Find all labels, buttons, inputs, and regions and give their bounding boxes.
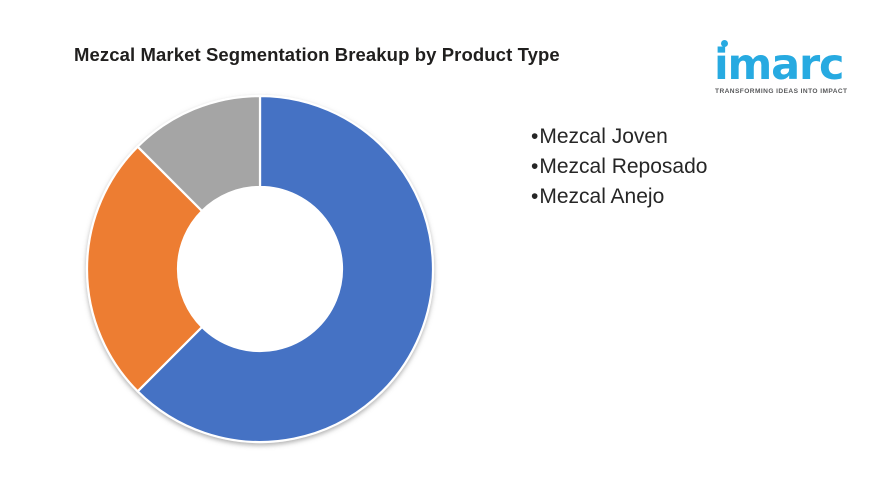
page-title: Mezcal Market Segmentation Breakup by Pr… [74, 44, 560, 66]
legend-bullet-icon: • [531, 152, 538, 182]
donut-chart [74, 83, 446, 455]
legend-item-mezcal-joven: • Mezcal Joven [531, 122, 831, 152]
chart-legend: • Mezcal Joven • Mezcal Reposado • Mezca… [531, 122, 831, 212]
legend-item-label: Mezcal Reposado [539, 152, 707, 182]
legend-item-label: Mezcal Anejo [539, 182, 664, 212]
legend-item-label: Mezcal Joven [539, 122, 667, 152]
legend-item-mezcal-reposado: • Mezcal Reposado [531, 152, 831, 182]
legend-bullet-icon: • [531, 182, 538, 212]
donut-center-hole [178, 187, 342, 351]
logo-tagline: TRANSFORMING IDEAS INTO IMPACT [715, 88, 848, 95]
legend-item-mezcal-anejo: • Mezcal Anejo [531, 182, 831, 212]
imarc-logo: imarc TRANSFORMING IDEAS INTO IMPACT [710, 36, 842, 96]
logo-wordmark: imarc [714, 44, 843, 87]
legend-bullet-icon: • [531, 122, 538, 152]
